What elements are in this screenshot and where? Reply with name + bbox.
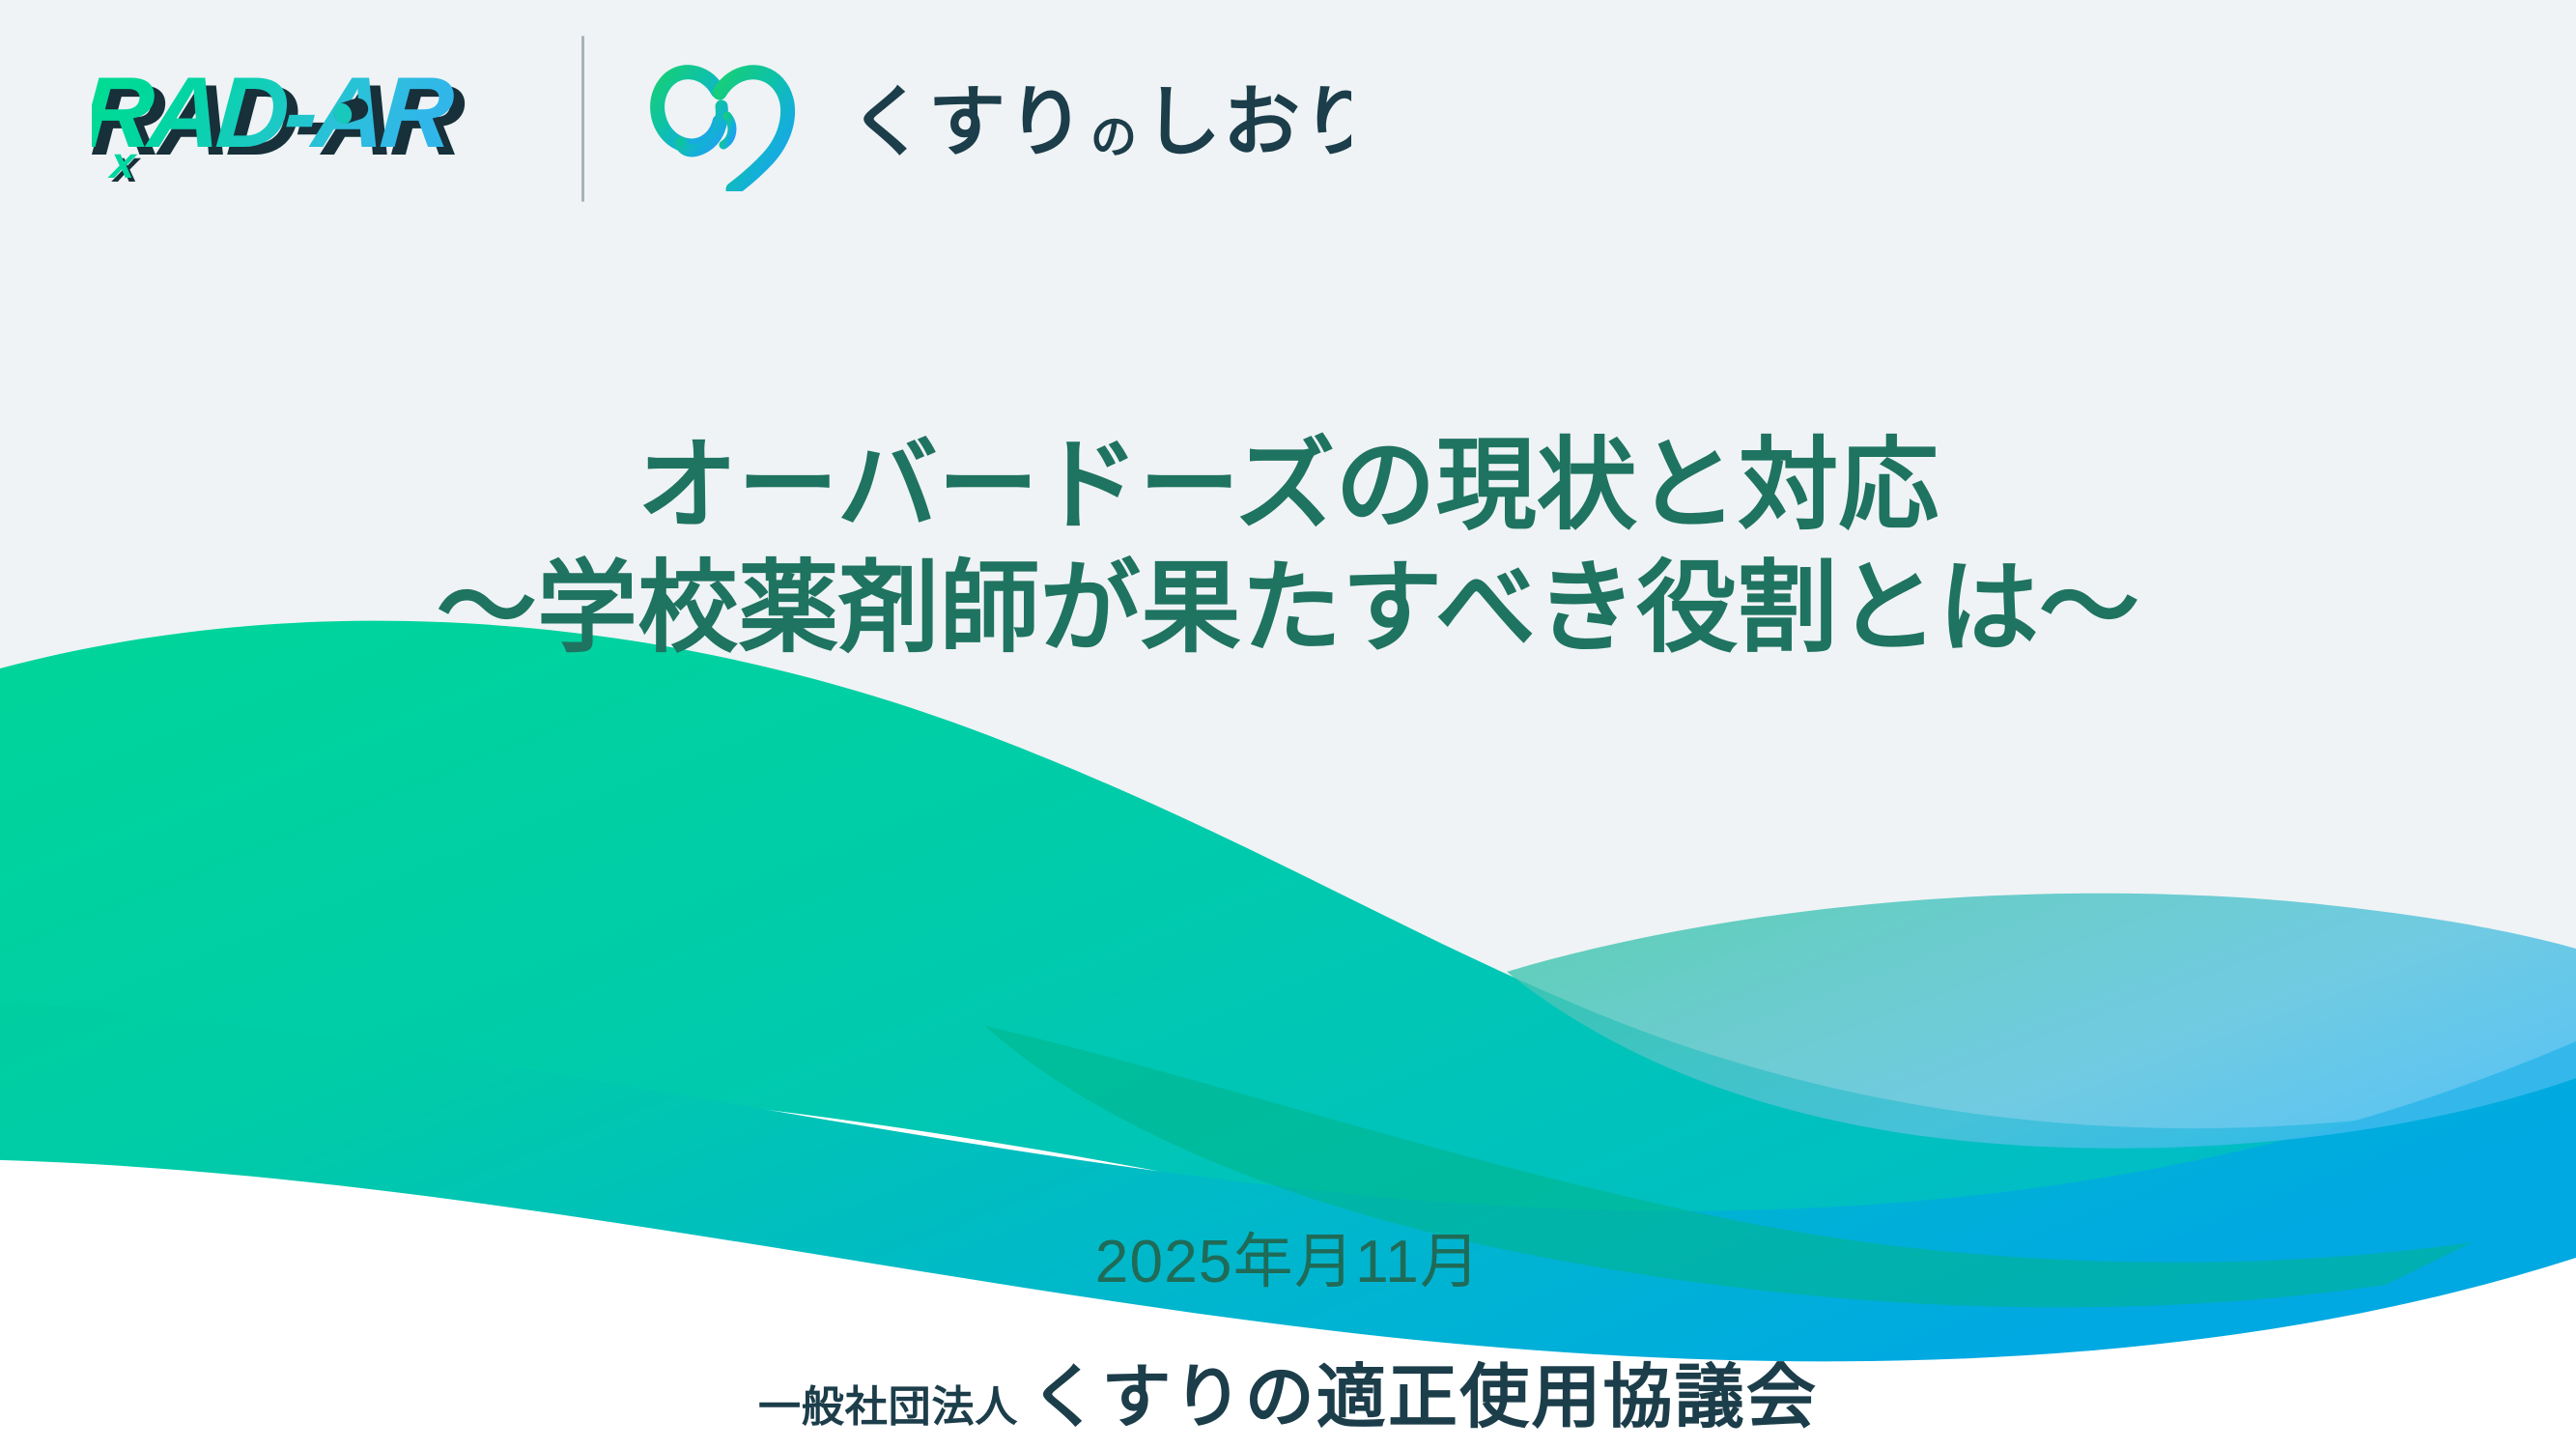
logo-divider	[581, 36, 584, 202]
slide-title: オーバードーズの現状と対応 〜学校薬剤師が果たすべき役割とは〜	[0, 425, 2576, 670]
logo-lockup: RAD-AR RAD-AR x x	[92, 46, 1351, 191]
svg-text:くすり: くすり	[849, 77, 1087, 167]
presentation-date: 2025年月11月	[0, 1212, 2576, 1299]
rad-ar-logo-icon: RAD-AR RAD-AR x x	[92, 46, 541, 191]
slide-footer: 2025年月11月 一般社団法人くすりの適正使用協議会	[0, 1212, 2576, 1441]
svg-text:の: の	[1090, 110, 1137, 164]
rad-ar-logo: RAD-AR RAD-AR x x	[92, 46, 541, 191]
svg-text:RAD-AR: RAD-AR	[92, 57, 457, 169]
organization-line: 一般社団法人くすりの適正使用協議会	[0, 1340, 2576, 1441]
kusuri-no-shiori-brand: くすり の しおり	[642, 46, 1351, 191]
heart-logo-icon	[642, 46, 816, 191]
organization-name: くすりの適正使用協議会	[1030, 1359, 1818, 1436]
slide-canvas: RAD-AR RAD-AR x x	[0, 0, 2576, 1449]
organization-prefix: 一般社団法人	[758, 1383, 1018, 1431]
svg-text:しおり: しおり	[1144, 77, 1351, 167]
kusuri-no-shiori-wordmark: くすり の しおり	[849, 66, 1351, 172]
title-line-1: オーバードーズの現状と対応	[0, 425, 2576, 548]
title-line-2: 〜学校薬剤師が果たすべき役割とは〜	[0, 548, 2576, 670]
